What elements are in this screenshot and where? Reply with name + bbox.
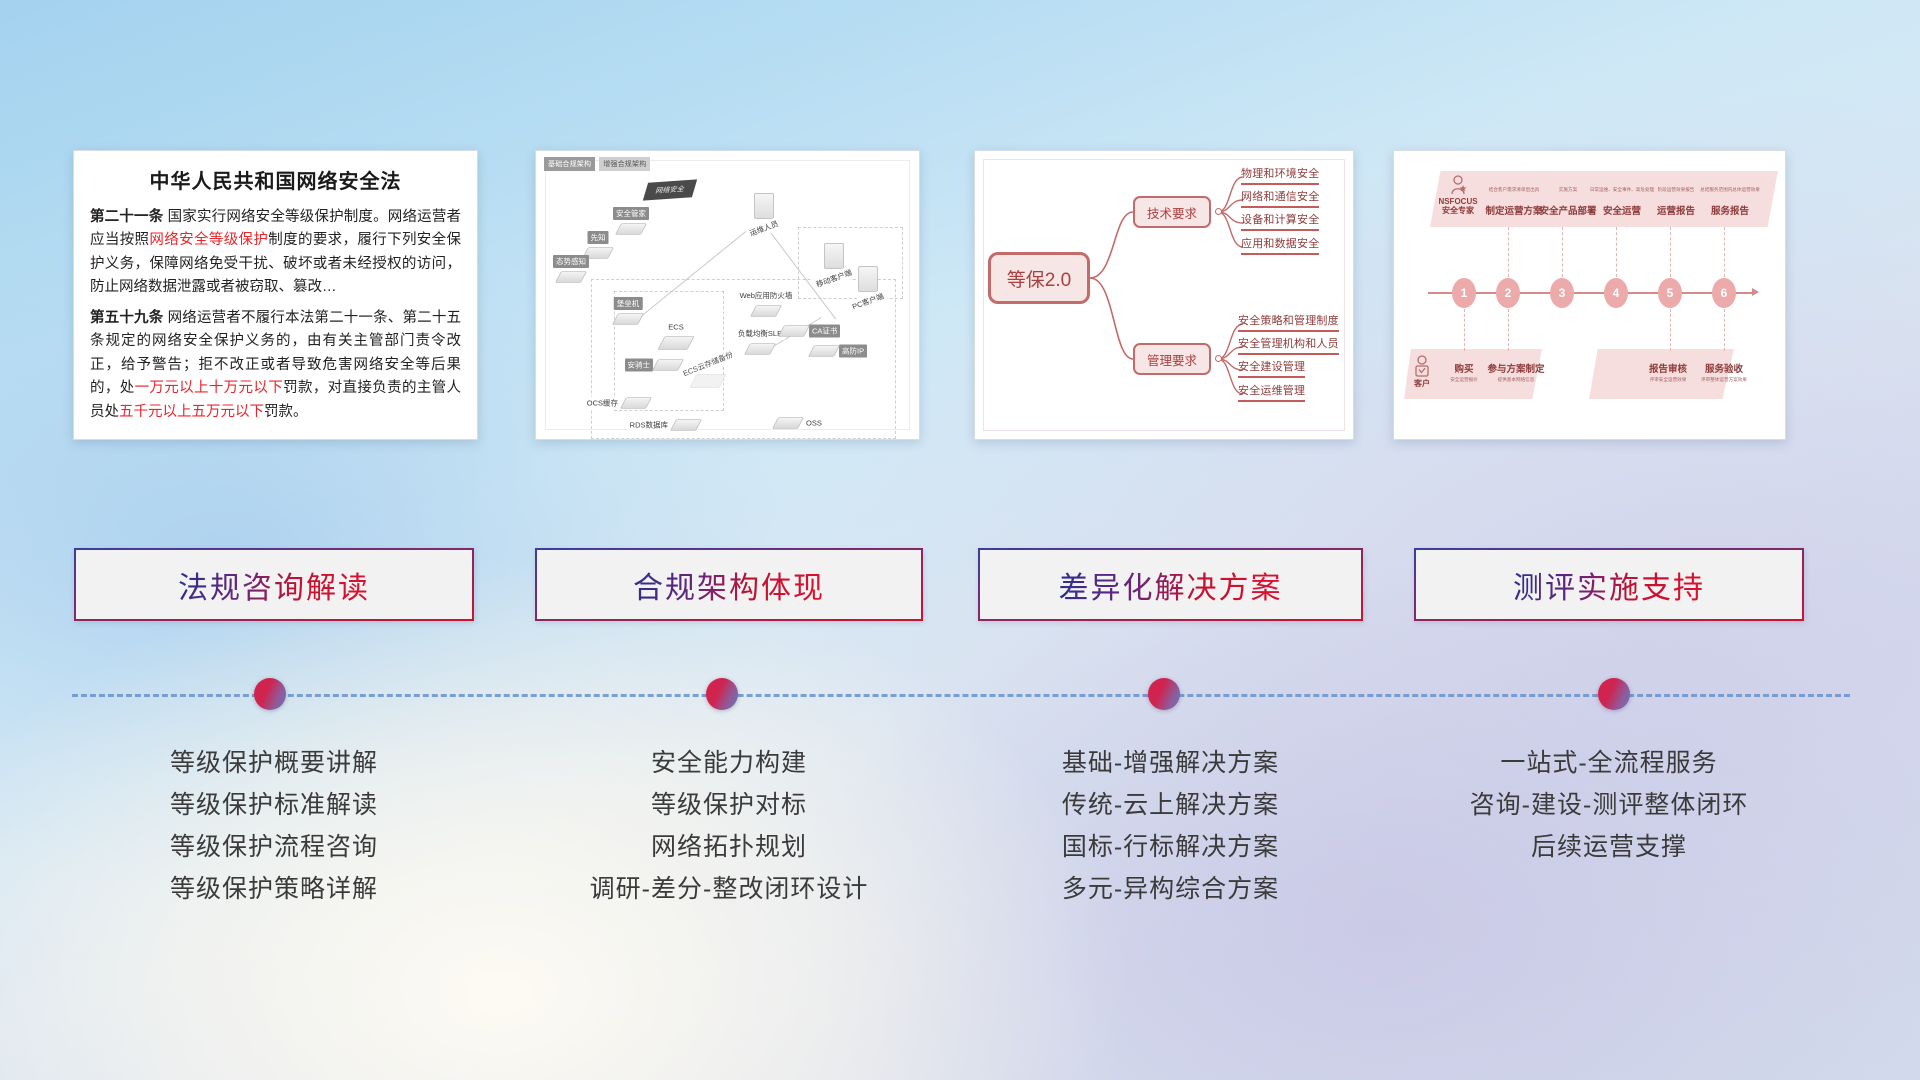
section-heading-label: 差异化解决方案 <box>1059 563 1283 607</box>
leader-line <box>1464 309 1465 351</box>
arch-node-oss[interactable]: OSS <box>775 415 801 431</box>
list-item: 咨询-建设-测评整体闭环 <box>1414 784 1804 826</box>
cube-icon <box>670 419 702 431</box>
reference-cards-row: 中华人民共和国网络安全法 第二十一条 国家实行网络安全等级保护制度。网络运营者应… <box>0 0 1920 460</box>
card-service-timeline[interactable]: NSFOCUS 安全专家 客户 1 2 <box>1393 150 1786 440</box>
list-item: 等级保护策略详解 <box>74 868 474 910</box>
section-item-list-4: 一站式-全流程服务 咨询-建设-测评整体闭环 后续运营支撑 <box>1414 742 1804 868</box>
timeline-step-title[interactable]: 运营报告 <box>1657 203 1695 217</box>
cube-icon <box>778 325 810 337</box>
collapse-dot-icon[interactable] <box>1215 355 1222 362</box>
timeline-step-sub: 日常运维、安全事件、高危处理 <box>1590 187 1654 193</box>
mindmap-root[interactable]: 等保2.0 <box>988 252 1090 304</box>
cube-icon <box>657 336 694 350</box>
law-article-label-2: 第五十九条 <box>90 310 163 326</box>
list-item: 网络拓扑规划 <box>535 826 923 868</box>
arch-node-ops-staff[interactable]: 运维人员 <box>754 193 774 219</box>
arch-node-bastion-host[interactable]: 堡垒机 <box>615 311 641 327</box>
timeline-step-title[interactable]: 服务验收 <box>1705 361 1743 375</box>
timeline-arrow-icon <box>1752 288 1759 296</box>
leader-line <box>1508 309 1509 351</box>
arch-node-label: OSS <box>803 418 825 429</box>
arch-node-label: 先知 <box>588 231 609 244</box>
collapse-dot-icon[interactable] <box>1215 208 1222 215</box>
timeline-step-sub: 评审安全运营效果 <box>1650 377 1687 383</box>
timeline-step-title[interactable]: 报告审核 <box>1649 361 1687 375</box>
timeline-step-sub: 提供基本网络信息 <box>1498 377 1535 383</box>
timeline-step-sub: 阶段运营效果报告 <box>1658 187 1695 193</box>
list-item: 安全能力构建 <box>535 742 923 784</box>
mindmap-leaf[interactable]: 设备和计算安全 <box>1241 211 1319 231</box>
list-item: 多元-异构综合方案 <box>978 868 1363 910</box>
timeline-step-title[interactable]: 购买 <box>1454 361 1473 375</box>
section-item-list-2: 安全能力构建 等级保护对标 网络拓扑规划 调研-差分-整改闭环设计 <box>535 742 923 910</box>
timeline-step-sub: 总结服务范围内总体运营效果 <box>1700 187 1760 193</box>
timeline-step-node-3[interactable]: 3 <box>1550 278 1574 308</box>
mindmap-diagram: 等保2.0 技术要求 管理要求 物理和环境安全 网络和通信安全 设备和计算安全 … <box>975 151 1353 439</box>
arch-node-anqishi[interactable]: 安骑士 <box>655 357 681 373</box>
section-item-list-1: 等级保护概要讲解 等级保护标准解读 等级保护流程咨询 等级保护策略详解 <box>74 742 474 910</box>
arch-node-label: ECS <box>665 322 686 333</box>
cube-icon <box>772 417 804 429</box>
timeline-step-sub: 安全运营报价 <box>1450 377 1478 383</box>
timeline-step-title[interactable]: 服务报告 <box>1711 203 1749 217</box>
timeline-step-title[interactable]: 安全产品部署 <box>1539 203 1596 217</box>
tab-enhanced-architecture[interactable]: 增强合规架构 <box>599 157 650 171</box>
cube-icon <box>808 345 840 357</box>
list-item: 等级保护概要讲解 <box>74 742 474 784</box>
law-paragraph-2: 第五十九条 网络运营者不履行本法第二十一条、第二十五条规定的网络安全保护义务的，… <box>90 307 461 424</box>
arch-node-anti-ddos-ip[interactable]: 高防IP <box>811 343 837 359</box>
arch-node-pc-client[interactable]: PC客户端 <box>858 266 878 292</box>
list-item: 一站式-全流程服务 <box>1414 742 1804 784</box>
law-highlight: 网络安全等级保护 <box>149 232 268 248</box>
arch-node-ecs[interactable]: ECS <box>661 334 691 353</box>
arch-node-rds-database[interactable]: RDS数据库 <box>673 417 699 433</box>
expert-role-name: NSFOCUS <box>1438 197 1477 206</box>
law-title: 中华人民共和国网络安全法 <box>90 165 461 194</box>
timeline-step-node-5[interactable]: 5 <box>1658 278 1682 308</box>
timeline-step-title[interactable]: 参与方案制定 <box>1487 361 1544 375</box>
card-dengbao-mindmap[interactable]: 等保2.0 技术要求 管理要求 物理和环境安全 网络和通信安全 设备和计算安全 … <box>974 150 1354 440</box>
list-item: 等级保护标准解读 <box>74 784 474 826</box>
nsfocus-frame: NSFOCUS 安全专家 客户 1 2 <box>1404 161 1775 429</box>
section-heading-label: 合规架构体现 <box>633 563 825 607</box>
arch-node-mobile-client[interactable]: 移动客户端 <box>824 243 844 269</box>
list-item: 等级保护流程咨询 <box>74 826 474 868</box>
arch-node-situational-awareness[interactable]: 态势感知 <box>558 269 584 285</box>
card-cloud-architecture[interactable]: 基础合规架构 增强合规架构 网络安全 安全管家 先知 态势感知 堡垒机 ECS … <box>535 150 920 440</box>
section-heading-label: 测评实施支持 <box>1513 563 1705 607</box>
section-heading-button-1[interactable]: 法规咨询解读 <box>74 548 474 621</box>
timeline-step-node-1[interactable]: 1 <box>1452 278 1476 308</box>
leader-line <box>1562 227 1563 277</box>
timeline-marker-1[interactable] <box>254 678 286 710</box>
section-heading-button-2[interactable]: 合规架构体现 <box>535 548 923 621</box>
list-item: 调研-差分-整改闭环设计 <box>535 868 923 910</box>
mindmap-leaf[interactable]: 安全建设管理 <box>1238 358 1305 378</box>
cube-icon <box>620 397 652 409</box>
mindmap-leaf[interactable]: 安全管理机构和人员 <box>1238 335 1339 355</box>
card-cybersecurity-law[interactable]: 中华人民共和国网络安全法 第二十一条 国家实行网络安全等级保护制度。网络运营者应… <box>73 150 478 440</box>
list-item: 等级保护对标 <box>535 784 923 826</box>
cube-icon <box>555 271 587 283</box>
law-highlight: 五千元以上五万元以下 <box>119 404 264 420</box>
expert-role-label: NSFOCUS 安全专家 <box>1438 197 1477 215</box>
arch-node-waf[interactable]: Web应用防火墙 <box>753 303 779 319</box>
section-item-list-3: 基础-增强解决方案 传统-云上解决方案 国标-行标解决方案 多元-异构综合方案 <box>978 742 1363 910</box>
leader-line <box>1616 227 1617 277</box>
arch-node-label: 负载均衡SLB <box>735 327 785 340</box>
arch-node-label: 高防IP <box>839 345 867 358</box>
timeline-marker-2[interactable] <box>706 678 738 710</box>
customer-role-label: 客户 <box>1414 379 1430 388</box>
arch-node-slb[interactable]: 负载均衡SLB <box>747 341 773 357</box>
mindmap-leaf[interactable]: 安全策略和管理制度 <box>1238 312 1339 332</box>
mindmap-leaf[interactable]: 安全运维管理 <box>1238 382 1305 402</box>
section-heading-label: 法规咨询解读 <box>178 563 370 607</box>
arch-node-label: 堡垒机 <box>614 297 643 310</box>
list-item: 传统-云上解决方案 <box>978 784 1363 826</box>
law-article-label-1: 第二十一条 <box>90 209 163 225</box>
list-item: 基础-增强解决方案 <box>978 742 1363 784</box>
arch-node-label: CA证书 <box>809 325 840 338</box>
law-paragraph-1: 第二十一条 国家实行网络安全等级保护制度。网络运营者应当按照网络安全等级保护制度… <box>90 206 461 300</box>
cube-icon <box>615 223 647 235</box>
timeline-step-sub: 结合客户需求清单后出具 <box>1489 187 1540 193</box>
expert-role-sub: 安全专家 <box>1442 206 1474 215</box>
timeline-step-sub: 实施方案 <box>1559 187 1577 193</box>
arch-node-ocs-cache[interactable]: OCS缓存 <box>623 395 649 411</box>
server-icon <box>858 266 878 292</box>
cube-icon <box>612 313 644 325</box>
architecture-tabs[interactable]: 基础合规架构 增强合规架构 <box>544 157 650 171</box>
mindmap-leaf[interactable]: 应用和数据安全 <box>1241 235 1319 255</box>
leader-line <box>1670 309 1671 351</box>
tab-basic-architecture[interactable]: 基础合规架构 <box>544 157 595 171</box>
mindmap-branch-technical[interactable]: 技术要求 <box>1133 196 1211 228</box>
law-body: 中华人民共和国网络安全法 第二十一条 国家实行网络安全等级保护制度。网络运营者应… <box>74 151 477 440</box>
list-item: 后续运营支撑 <box>1414 826 1804 868</box>
law-highlight: 一万元以上十万元以下 <box>135 380 284 396</box>
timeline-marker-3[interactable] <box>1148 678 1180 710</box>
server-icon <box>824 243 844 269</box>
arch-node-ecs-backup[interactable]: ECS云存储备份 <box>693 372 723 391</box>
cube-icon <box>744 343 776 355</box>
mindmap-branch-management[interactable]: 管理要求 <box>1133 343 1211 375</box>
timeline-dashed-line <box>72 694 1850 697</box>
arch-node-label: 态势感知 <box>553 255 589 268</box>
expert-lane-banner <box>1430 171 1778 227</box>
mindmap-leaf[interactable]: 网络和通信安全 <box>1241 188 1319 208</box>
expert-person-icon <box>1448 175 1468 195</box>
customer-person-icon <box>1412 355 1432 377</box>
arch-node-label: OCS缓存 <box>584 397 621 410</box>
arch-node-label: RDS数据库 <box>627 419 671 432</box>
section-heading-button-3[interactable]: 差异化解决方案 <box>978 548 1363 621</box>
arch-node-ca-certificate[interactable]: CA证书 <box>781 323 807 339</box>
timeline-step-title[interactable]: 制定运营方案 <box>1485 203 1542 217</box>
cube-icon <box>689 374 726 388</box>
slide-canvas: 中华人民共和国网络安全法 第二十一条 国家实行网络安全等级保护制度。网络运营者应… <box>0 0 1920 1080</box>
arch-node-security-steward[interactable]: 安全管家 <box>618 221 644 237</box>
arch-node-label: 安骑士 <box>625 359 654 372</box>
section-heading-button-4[interactable]: 测评实施支持 <box>1414 548 1804 621</box>
leader-line <box>1508 227 1509 277</box>
timeline-step-node-4[interactable]: 4 <box>1604 278 1628 308</box>
leader-line <box>1724 227 1725 277</box>
leader-line <box>1724 309 1725 351</box>
server-icon <box>754 193 774 219</box>
list-item: 国标-行标解决方案 <box>978 826 1363 868</box>
architecture-diagram: 基础合规架构 增强合规架构 网络安全 安全管家 先知 态势感知 堡垒机 ECS … <box>536 151 919 439</box>
leader-line <box>1670 227 1671 277</box>
nsfocus-timeline-diagram: NSFOCUS 安全专家 客户 1 2 <box>1394 151 1785 439</box>
mindmap-leaf[interactable]: 物理和环境安全 <box>1241 165 1319 185</box>
timeline-marker-4[interactable] <box>1598 678 1630 710</box>
timeline-step-node-2[interactable]: 2 <box>1496 278 1520 308</box>
timeline-axis <box>1428 292 1754 294</box>
timeline-step-sub: 评审整体运营方案效果 <box>1701 377 1747 383</box>
timeline-step-title[interactable]: 安全运营 <box>1603 203 1641 217</box>
timeline-step-node-6[interactable]: 6 <box>1712 278 1736 308</box>
arch-node-db-audit[interactable]: 数据库审计 <box>683 439 709 440</box>
arch-node-label: 安全管家 <box>613 207 649 220</box>
architecture-banner: 网络安全 <box>643 179 697 200</box>
law-seg: 罚款。 <box>264 404 308 420</box>
cube-icon <box>750 305 782 317</box>
arch-node-label: Web应用防火墙 <box>737 289 796 302</box>
